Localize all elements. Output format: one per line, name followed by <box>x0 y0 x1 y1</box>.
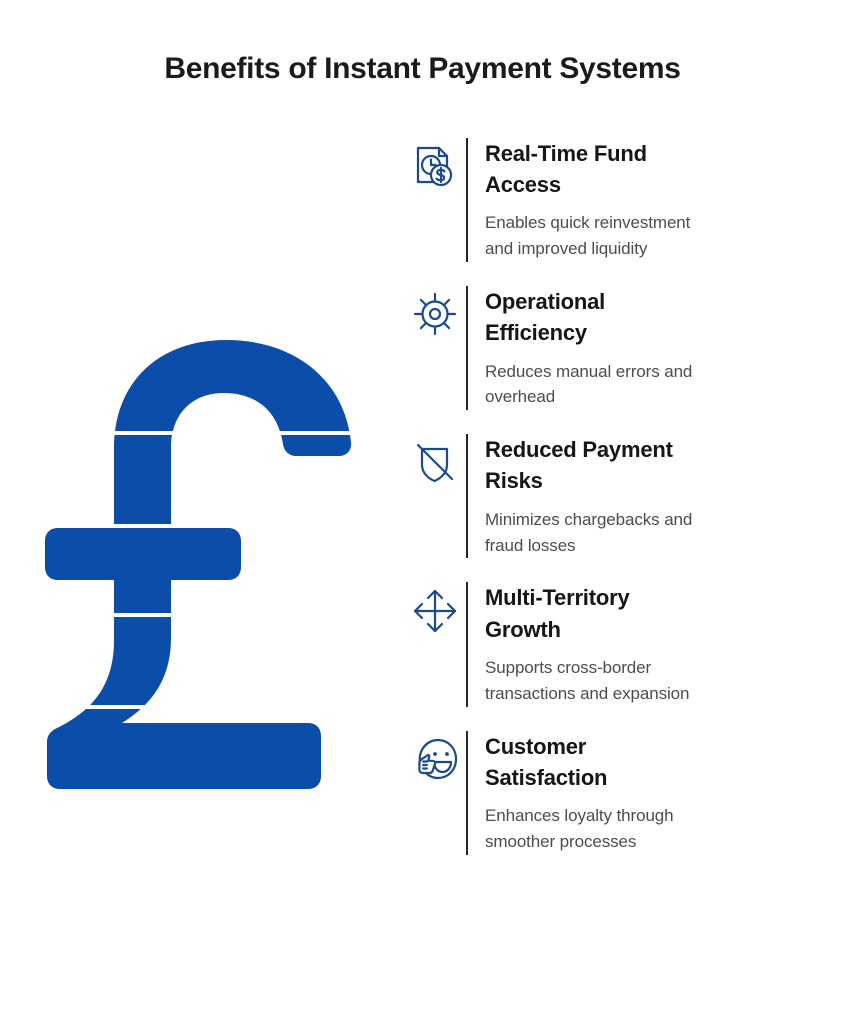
icon-container <box>404 286 466 336</box>
shield-slash-icon <box>412 440 458 486</box>
benefit-text: Reduced Payment Risks Minimizes chargeba… <box>485 434 704 558</box>
benefit-description: Supports cross-border transactions and e… <box>485 655 704 707</box>
smiley-thumbs-up-icon <box>411 737 459 783</box>
page-title: Benefits of Instant Payment Systems <box>0 52 845 86</box>
benefit-divider-rule <box>466 731 468 855</box>
benefit-text: Customer Satisfaction Enhances loyalty t… <box>485 731 704 855</box>
benefit-description: Enhances loyalty through smoother proces… <box>485 803 704 855</box>
benefit-text: Multi-Territory Growth Supports cross-bo… <box>485 582 704 706</box>
benefit-text: Real-Time Fund Access Enables quick rein… <box>485 138 704 262</box>
benefit-item-operational-efficiency: Operational Efficiency Reduces manual er… <box>404 286 704 410</box>
icon-container <box>404 582 466 634</box>
benefit-text: Operational Efficiency Reduces manual er… <box>485 286 704 410</box>
four-way-arrow-expand-icon <box>412 588 458 634</box>
benefit-title: Reduced Payment Risks <box>485 434 704 496</box>
benefit-description: Reduces manual errors and overhead <box>485 359 704 411</box>
benefit-title: Real-Time Fund Access <box>485 138 704 200</box>
benefit-description: Enables quick reinvestment and improved … <box>485 210 704 262</box>
benefit-item-reduced-payment-risks: Reduced Payment Risks Minimizes chargeba… <box>404 434 704 558</box>
pound-sterling-graphic <box>40 338 380 818</box>
gear-sun-efficiency-icon <box>413 292 457 336</box>
benefit-divider-rule <box>466 286 468 410</box>
benefit-title: Operational Efficiency <box>485 286 704 348</box>
benefit-description: Minimizes chargebacks and fraud losses <box>485 507 704 559</box>
benefit-item-multi-territory-growth: Multi-Territory Growth Supports cross-bo… <box>404 582 704 706</box>
benefit-divider-rule <box>466 434 468 558</box>
icon-container <box>404 138 466 194</box>
document-clock-dollar-icon <box>410 144 460 194</box>
icon-container <box>404 434 466 486</box>
benefit-title: Multi-Territory Growth <box>485 582 704 644</box>
benefit-title: Customer Satisfaction <box>485 731 704 793</box>
benefit-divider-rule <box>466 582 468 706</box>
infographic-page: Benefits of Instant Payment Systems <box>0 0 845 1024</box>
benefit-item-customer-satisfaction: Customer Satisfaction Enhances loyalty t… <box>404 731 704 855</box>
benefits-list: Real-Time Fund Access Enables quick rein… <box>404 138 704 855</box>
icon-container <box>404 731 466 783</box>
benefit-item-real-time-fund-access: Real-Time Fund Access Enables quick rein… <box>404 138 704 262</box>
benefit-divider-rule <box>466 138 468 262</box>
